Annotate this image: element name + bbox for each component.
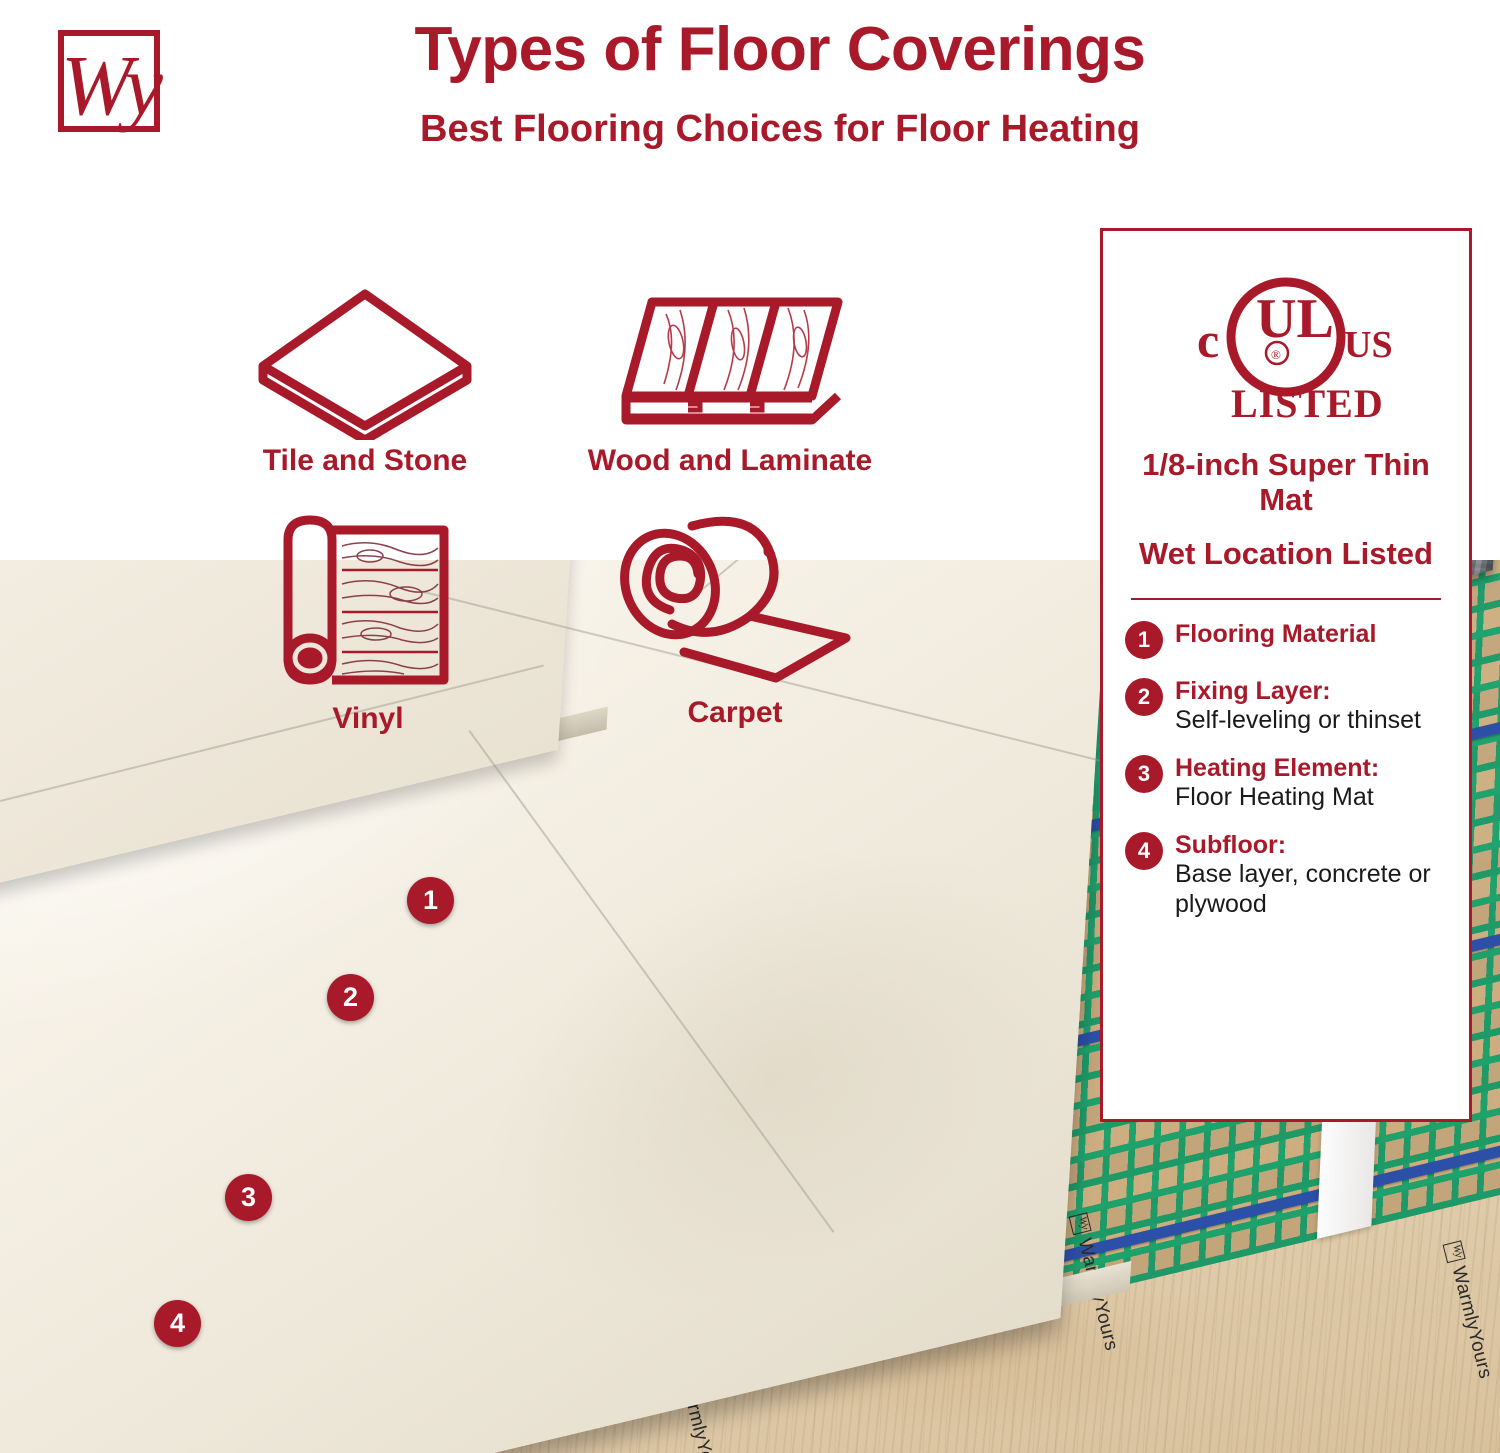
panel-divider xyxy=(1131,598,1441,600)
panel-headline: 1/8-inch Super Thin Mat xyxy=(1125,448,1447,517)
legend-number-badge: 3 xyxy=(1125,755,1163,793)
legend-subtitle: Floor Heating Mat xyxy=(1175,783,1374,811)
logo-wordmark: Wy xyxy=(56,26,168,146)
legend-number-badge: 4 xyxy=(1125,832,1163,870)
brand-logo: Wy xyxy=(48,22,168,142)
page-title: Types of Floor Coverings xyxy=(330,14,1230,85)
culus-listed-icon: c UL ® US LISTED xyxy=(1161,275,1411,425)
vinyl-roll-icon xyxy=(258,508,478,698)
floor-type-tile-stone: Tile and Stone xyxy=(245,280,485,478)
legend-item-2: 2 Fixing Layer: Self-leveling or thinset xyxy=(1125,677,1447,736)
legend-title: Flooring Material xyxy=(1175,620,1376,648)
ul-mark-ul: UL xyxy=(1256,288,1334,350)
carpet-roll-icon xyxy=(600,512,870,692)
wood-plank-icon xyxy=(580,280,880,440)
wy-logo-icon xyxy=(1069,1212,1092,1235)
page-subtitle: Best Flooring Choices for Floor Heating xyxy=(330,108,1230,151)
legend-subtitle: Base layer, concrete or plywood xyxy=(1175,860,1431,918)
info-panel: c UL ® US LISTED 1/8-inch Super Thin Mat… xyxy=(1100,228,1472,1122)
floor-type-wood-laminate: Wood and Laminate xyxy=(560,280,900,478)
tile-slab-icon xyxy=(245,280,485,440)
floor-type-label: Vinyl xyxy=(258,702,478,736)
legend-title: Fixing Layer: xyxy=(1175,677,1331,705)
legend-number-badge: 1 xyxy=(1125,621,1163,659)
ul-mark-us: US xyxy=(1344,324,1393,366)
legend-title: Subfloor: xyxy=(1175,831,1286,859)
floor-type-vinyl: Vinyl xyxy=(258,508,478,736)
photo-callout-3: 3 xyxy=(225,1174,272,1221)
photo-callout-2: 2 xyxy=(327,974,374,1021)
ul-mark-listed: LISTED xyxy=(1231,381,1384,425)
wy-logo-icon xyxy=(1443,1240,1466,1263)
legend-number-badge: 2 xyxy=(1125,678,1163,716)
photo-callout-4: 4 xyxy=(154,1300,201,1347)
legend-title: Heating Element: xyxy=(1175,754,1379,782)
ul-mark-registered: ® xyxy=(1271,347,1281,362)
header: Wy Types of Floor Coverings Best Floorin… xyxy=(0,0,1500,190)
ul-mark-c: c xyxy=(1197,312,1219,368)
floor-type-label: Tile and Stone xyxy=(245,444,485,478)
ul-certification-mark: c UL ® US LISTED xyxy=(1125,275,1447,430)
panel-headline-secondary: Wet Location Listed xyxy=(1125,537,1447,572)
legend-item-4: 4 Subfloor: Base layer, concrete or plyw… xyxy=(1125,831,1447,920)
legend-subtitle: Self-leveling or thinset xyxy=(1175,706,1421,734)
floor-type-label: Wood and Laminate xyxy=(560,444,900,478)
legend-item-1: 1 Flooring Material xyxy=(1125,620,1447,659)
floor-type-carpet: Carpet xyxy=(600,512,870,730)
floor-type-label: Carpet xyxy=(600,696,870,730)
legend-item-3: 3 Heating Element: Floor Heating Mat xyxy=(1125,754,1447,813)
photo-callout-1: 1 xyxy=(407,877,454,924)
